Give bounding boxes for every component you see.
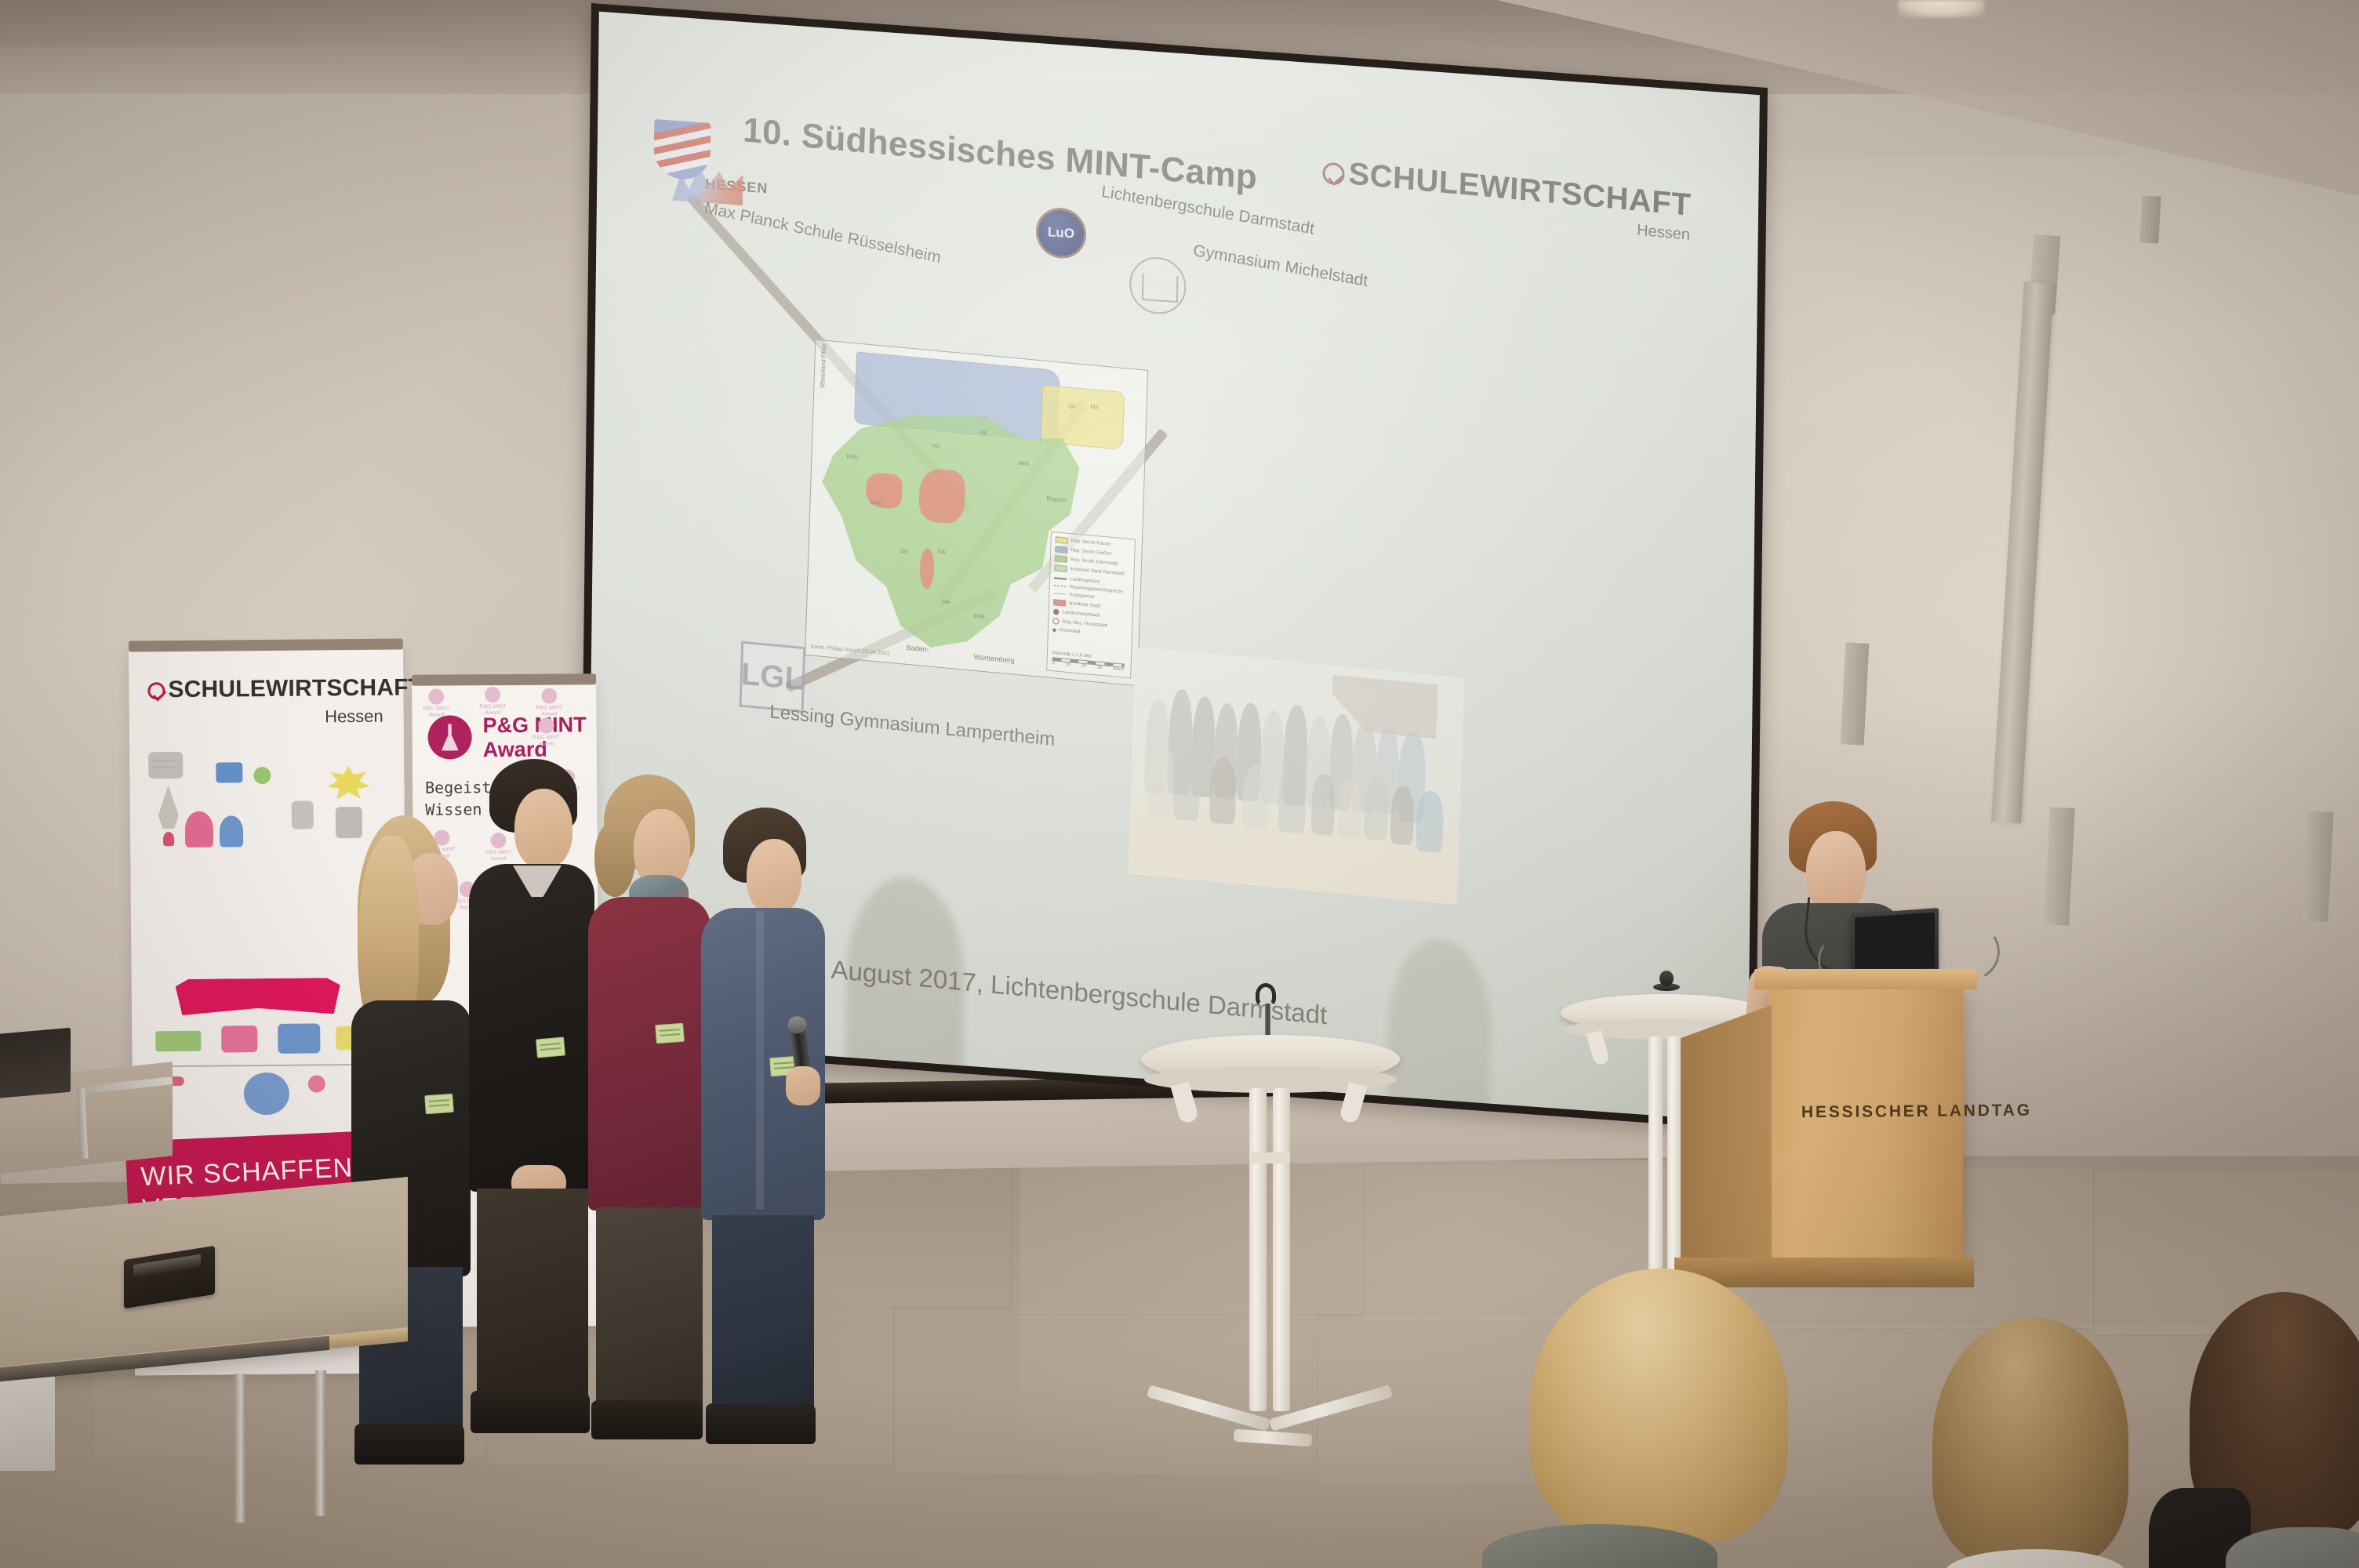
presenter-2-shoes bbox=[471, 1391, 590, 1433]
hessen-district-map: HG FB MTK GG DA HP ERB MKK OF RÜD FD Bad… bbox=[805, 339, 1148, 686]
hessen-coat-of-arms-icon: HESSEN bbox=[653, 103, 711, 181]
legend-swatch bbox=[1052, 628, 1056, 632]
audience-1-hair bbox=[1529, 1269, 1788, 1543]
banner-top-rail bbox=[129, 638, 403, 652]
bistro-table-1 bbox=[1141, 1035, 1400, 1521]
presenter-4-legs bbox=[712, 1215, 814, 1411]
map-scale-tick: 0 bbox=[1052, 661, 1055, 666]
legend-swatch bbox=[1054, 564, 1067, 572]
map-region-darmstadt bbox=[817, 402, 1084, 661]
bistro-table-1-foot bbox=[1234, 1429, 1313, 1447]
map-label-district: OF bbox=[1068, 405, 1076, 411]
presentation-room-scene: HESSEN 10. Südhessisches MINT-Camp SCHUL… bbox=[0, 0, 2359, 1568]
school-label-lessing-gymnasium: Lessing Gymnasium Lampertheim bbox=[769, 701, 1056, 751]
map-label-neighbour: Württemberg bbox=[973, 653, 1014, 665]
lichtenbergschule-logo-icon: LuO bbox=[1036, 206, 1087, 260]
map-label-district: RÜD bbox=[846, 454, 858, 460]
presenter-3-shoes bbox=[591, 1400, 703, 1439]
map-label-district: HP bbox=[943, 600, 951, 606]
map-label-district: FD bbox=[1090, 405, 1098, 411]
audience-member-1 bbox=[1514, 1269, 1812, 1568]
desk-leg bbox=[315, 1370, 326, 1516]
presenter-2-name-badge bbox=[536, 1036, 565, 1058]
presenter-2-legs bbox=[477, 1189, 588, 1399]
map-city-frankfurt bbox=[918, 467, 965, 524]
presenter-4-shirt-placket bbox=[756, 911, 764, 1209]
check-circle-icon bbox=[147, 682, 165, 699]
map-scale-tick: 20 bbox=[1081, 664, 1086, 670]
legend-swatch bbox=[1053, 599, 1066, 606]
bistro-table-1-brace bbox=[1249, 1152, 1290, 1163]
bistro-table-1-column bbox=[1249, 1088, 1267, 1411]
gymnasium-michelstadt-seal-icon bbox=[1129, 256, 1187, 316]
map-label-district: ERB bbox=[973, 614, 985, 620]
map-label-district: FB bbox=[980, 430, 987, 437]
presenter-3-legs bbox=[596, 1207, 703, 1408]
presenter-3-ponytail bbox=[594, 822, 635, 897]
presenter-2-head bbox=[514, 789, 572, 869]
slide-title: 10. Südhessisches MINT-Camp bbox=[742, 111, 1257, 198]
wall-fin-6 bbox=[2139, 195, 2161, 243]
pg-mint-award-logo-icon bbox=[427, 715, 471, 759]
map-scale: Maßstab 1:1,8 Mio 0 10 20 30 40km bbox=[1052, 651, 1125, 673]
map-label-neighbour: Rheinland-Pfalz bbox=[819, 343, 827, 388]
presenter-4-head bbox=[747, 839, 801, 914]
audience-member-3 bbox=[2149, 1292, 2359, 1568]
map-label-district: MKK bbox=[1018, 461, 1030, 467]
map-legend: Reg. Bezirk Kassel Reg. Bezirk Gießen Re… bbox=[1046, 532, 1136, 679]
legend-swatch bbox=[1055, 555, 1067, 562]
legend-swatch bbox=[1052, 618, 1059, 625]
map-credit: Karte: Philipp Rauch 23.04.2003 bbox=[810, 643, 889, 657]
ceiling-light bbox=[1898, 0, 1984, 17]
presenter-4-hand-on-mic bbox=[786, 1066, 820, 1105]
presenter-2-torso bbox=[469, 864, 594, 1192]
banner-schulewirtschaft-logo-sub: Hessen bbox=[325, 706, 383, 728]
legend-swatch bbox=[1053, 593, 1066, 595]
lectern-side-panel bbox=[1681, 1005, 1772, 1281]
pg-mint-watermark: P&G MINT Award bbox=[418, 688, 454, 719]
map-scale-tick: 30 bbox=[1097, 665, 1103, 670]
schulewirtschaft-logo: SCHULEWIRTSCHAFT Hessen bbox=[1321, 154, 1692, 245]
map-scale-tick: 10 bbox=[1065, 662, 1070, 668]
pg-mint-watermark: P&G MINT Award bbox=[531, 688, 567, 718]
school-label-gymnasium-michelstadt: Gymnasium Michelstadt bbox=[1192, 241, 1369, 291]
microphone-head-icon bbox=[1659, 971, 1674, 986]
desk-drawer-unit bbox=[0, 1377, 55, 1471]
pg-mint-watermark: P&G MINT Award bbox=[474, 687, 511, 717]
check-circle-icon bbox=[1322, 162, 1345, 186]
presenter-3-name-badge bbox=[655, 1023, 685, 1044]
presenter-1-shoes bbox=[354, 1424, 464, 1465]
legend-swatch bbox=[1056, 536, 1068, 543]
audience-member-2 bbox=[1921, 1317, 2157, 1568]
banner-ribbon bbox=[176, 978, 340, 1015]
banner-top-rail bbox=[412, 673, 596, 686]
legend-swatch bbox=[1054, 577, 1067, 579]
audience-2-hair bbox=[1932, 1317, 2128, 1566]
back-desk-monitor bbox=[0, 1028, 71, 1100]
lectern-desktop bbox=[1754, 969, 1977, 989]
lectern: HESSISCHER LANDTAG bbox=[1768, 986, 1963, 1269]
presenter-1-name-badge bbox=[424, 1094, 454, 1114]
presenter-3-torso bbox=[588, 897, 711, 1210]
banner-schulewirtschaft-logo: SCHULEWIRTSCHAFT bbox=[147, 674, 423, 703]
desk-leg bbox=[235, 1374, 246, 1523]
presenter-4-shoes bbox=[706, 1403, 816, 1444]
mint-camp-group-photo bbox=[1128, 647, 1465, 905]
map-label-district: DA bbox=[938, 549, 946, 555]
legend-swatch bbox=[1054, 585, 1067, 587]
presenter-4 bbox=[695, 808, 836, 1466]
map-label-district: MTK bbox=[871, 500, 882, 506]
lectern-venue-label: HESSISCHER LANDTAG bbox=[1801, 1102, 2032, 1123]
legend-swatch bbox=[1053, 608, 1060, 615]
bistro-table-1-column bbox=[1273, 1088, 1290, 1411]
map-label-district: GG bbox=[900, 549, 909, 555]
pg-mint-watermark: P&G MINT Award bbox=[528, 717, 564, 748]
legend-swatch bbox=[1055, 546, 1067, 553]
map-label-district: HG bbox=[932, 444, 940, 450]
map-scale-tick: 40km bbox=[1113, 666, 1125, 672]
map-label-neighbour: Baden- bbox=[907, 644, 929, 654]
group-photo-projection-wash bbox=[1128, 647, 1465, 905]
